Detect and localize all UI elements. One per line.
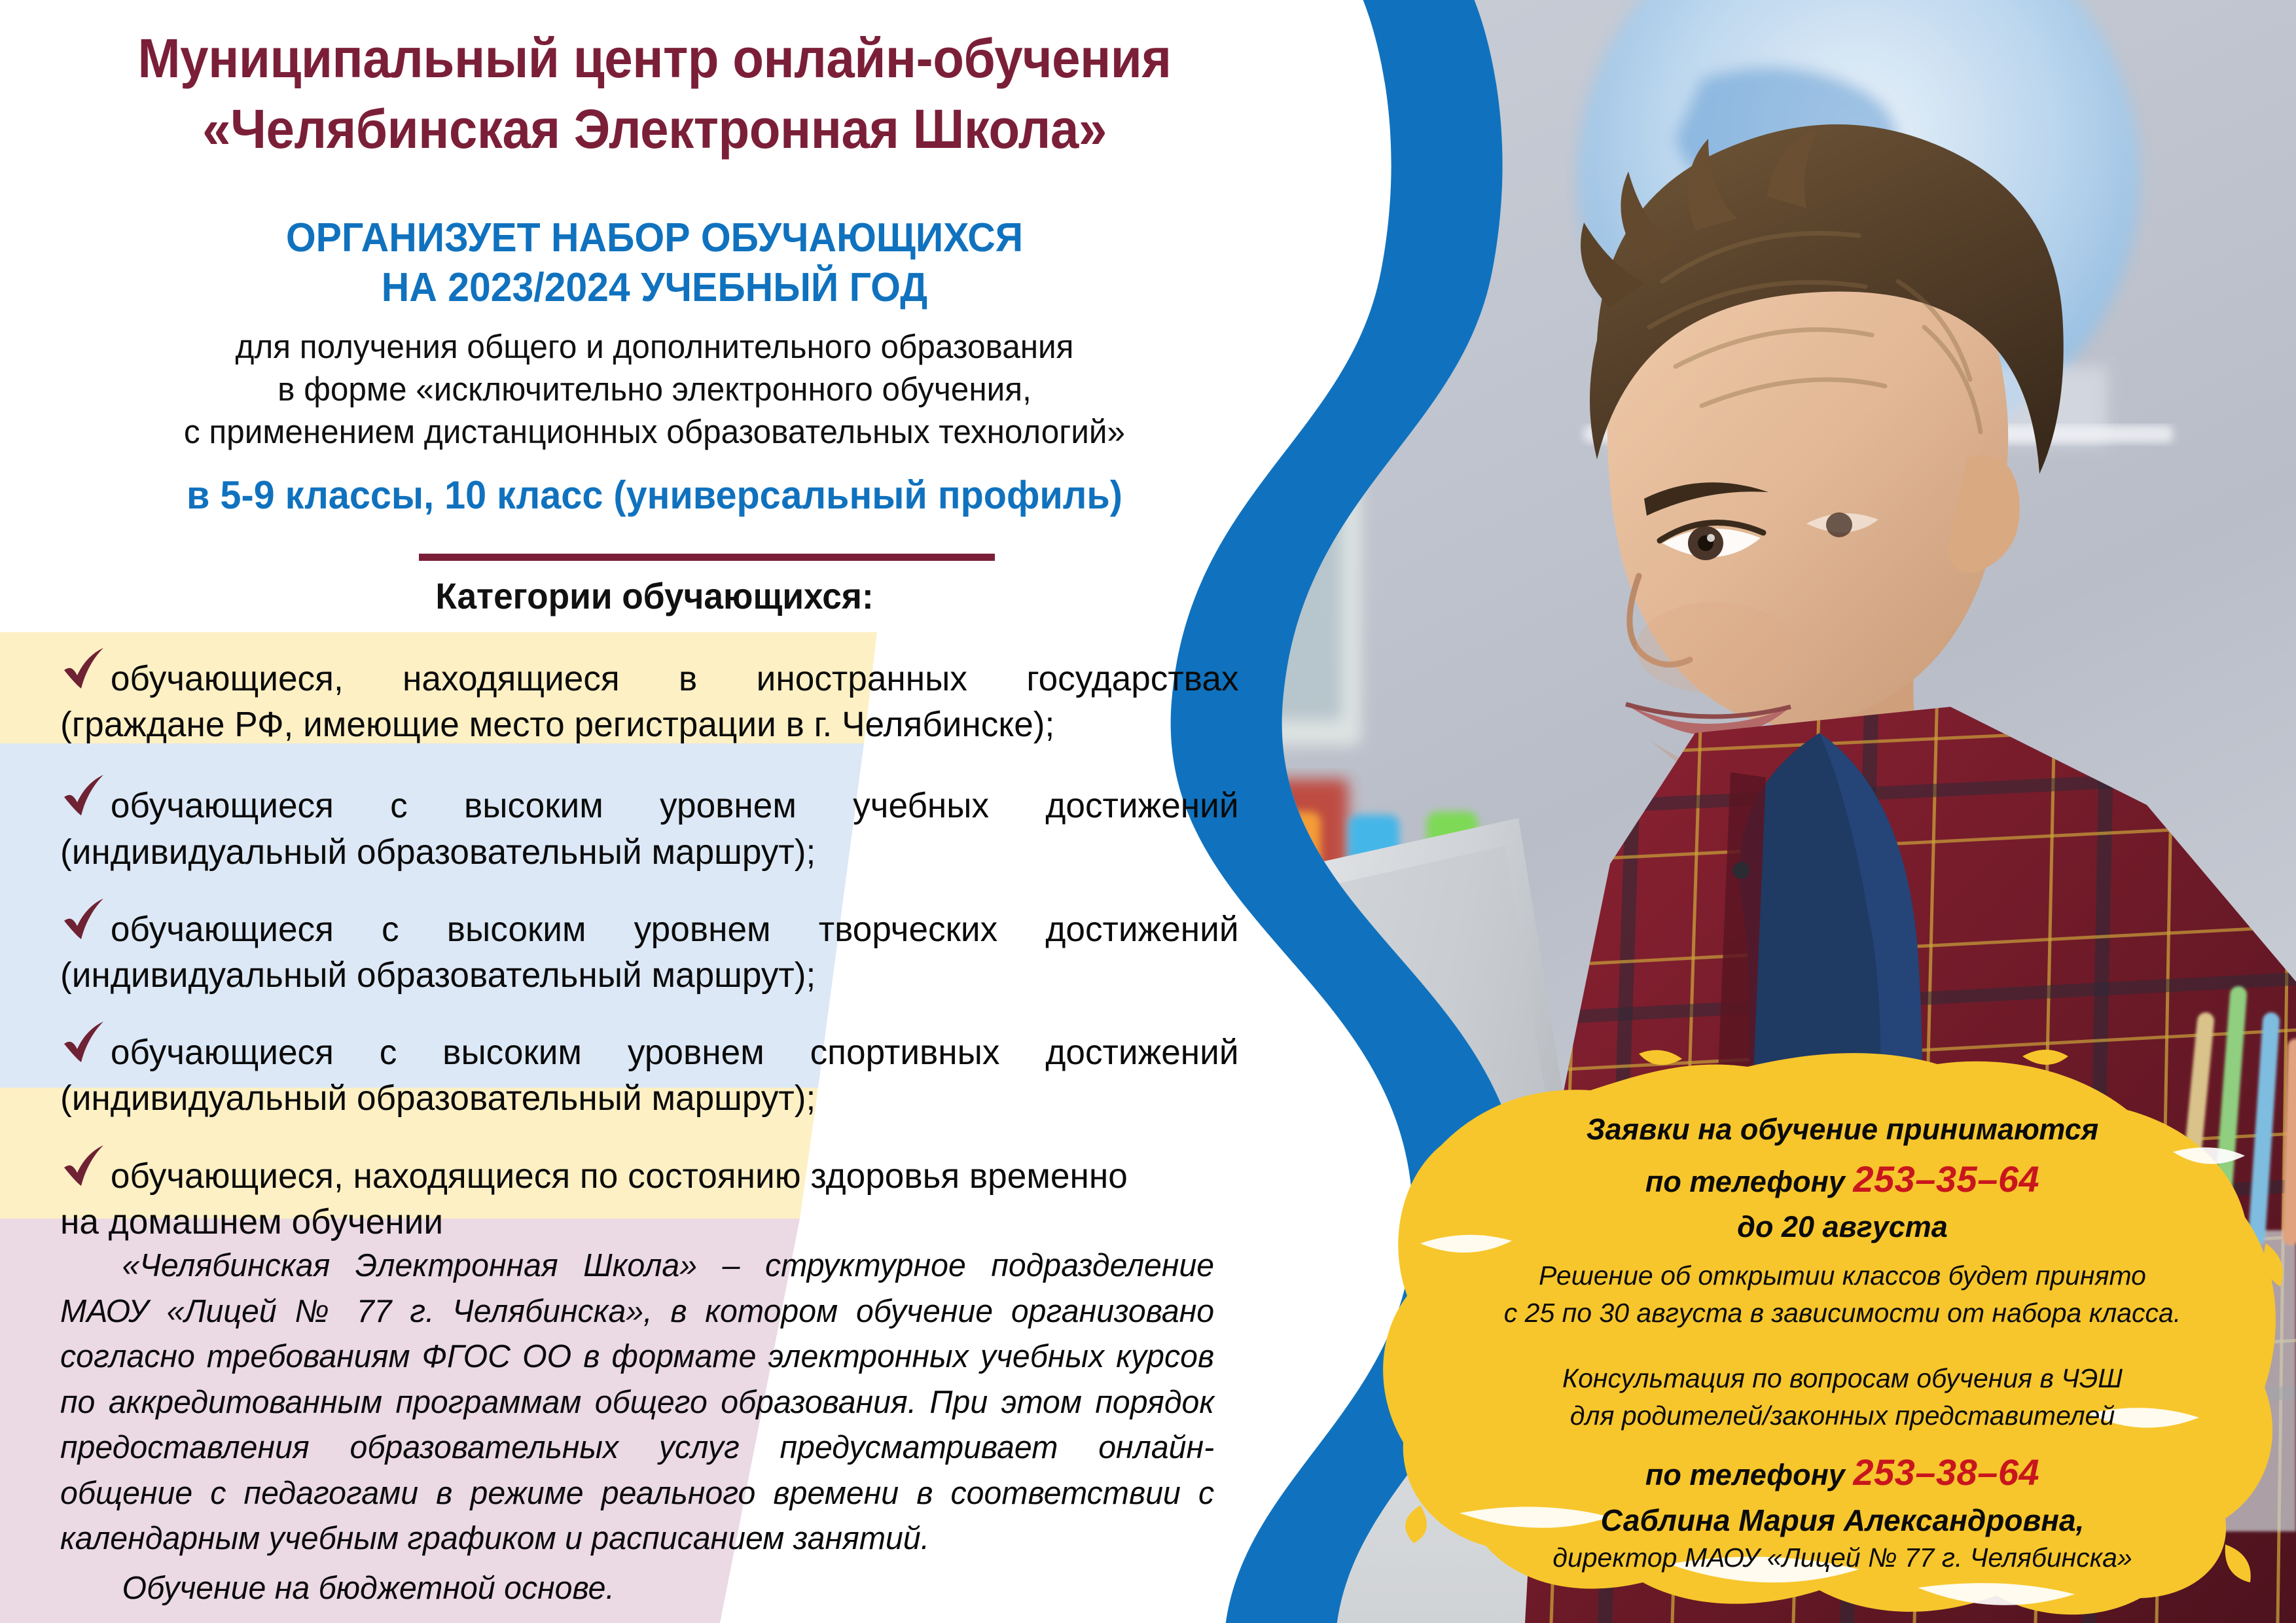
list-item-line-2: (индивидуальный образовательный маршрут)… (60, 829, 1239, 875)
list-item-line-2: (индивидуальный образовательный маршрут)… (60, 1075, 1239, 1121)
intro-line-3: с применением дистанционных образователь… (58, 411, 1251, 454)
categories-list: обучающиеся, находящиеся в иностранных г… (0, 632, 1283, 1257)
phone-label-2: по телефону (1645, 1458, 1845, 1491)
list-item-line-1: обучающиеся, находящиеся в иностранных г… (60, 656, 1239, 702)
list-item-line-1: обучающиеся с высоким уровнем учебных до… (60, 783, 1239, 829)
contact-deadline: до 20 августа (1407, 1210, 2278, 1244)
list-item-line-1: обучающиеся с высоким уровнем творческих… (60, 906, 1239, 952)
contact-phone-row-1: по телефону 253–35–64 (1407, 1156, 2278, 1204)
list-item: обучающиеся, находящиеся по состоянию зд… (0, 1153, 1283, 1245)
description-paragraph: «Челябинская Электронная Школа» – структ… (60, 1243, 1214, 1612)
contact-block: Заявки на обучение принимаются по телефо… (1407, 1113, 2278, 1574)
list-item: обучающиеся, находящиеся в иностранных г… (0, 656, 1283, 747)
intro-line-2: в форме «исключительно электронного обуч… (58, 368, 1251, 411)
intro-body: для получения общего и дополнительного о… (58, 326, 1251, 453)
director-title: директор МАОУ «Лицей № 77 г. Челябинска» (1407, 1541, 2278, 1574)
list-item-line-1: обучающиеся с высоким уровнем спортивных… (60, 1029, 1239, 1075)
director-name: Саблина Мария Александровна, (1407, 1502, 2278, 1539)
list-item: обучающиеся с высоким уровнем учебных до… (0, 783, 1283, 874)
contact-note-2: с 25 по 30 августа в зависимости от набо… (1407, 1296, 2278, 1330)
contact-note-1: Решение об открытии классов будет принят… (1407, 1258, 2278, 1293)
contact-consult-1: Консультация по вопросам обучения в ЧЭШ (1407, 1361, 2278, 1396)
title-line-1: Муниципальный центр онлайн-обучения (82, 27, 1227, 89)
phone-label-1: по телефону (1645, 1165, 1845, 1198)
title-line-2: «Челябинская Электронная Школа» (82, 98, 1227, 160)
list-item: обучающиеся с высоким уровнем творческих… (0, 906, 1283, 998)
description-text-1: «Челябинская Электронная Школа» – структ… (60, 1243, 1214, 1562)
phone-number-1[interactable]: 253–35–64 (1853, 1158, 2039, 1200)
subtitle-block: ОРГАНИЗУЕТ НАБОР ОБУЧАЮЩИХСЯ НА 2023/202… (70, 213, 1239, 312)
list-item-line-2: (индивидуальный образовательный маршрут)… (60, 952, 1239, 998)
subtitle-line-1: ОРГАНИЗУЕТ НАБОР ОБУЧАЮЩИХСЯ (70, 213, 1239, 263)
contact-consult-2: для родителей/законных представителей (1407, 1399, 2278, 1433)
list-item-line-2: на домашнем обучении (60, 1199, 1239, 1245)
intro-line-1: для получения общего и дополнительного о… (58, 326, 1251, 368)
left-content: Муниципальный центр онлайн-обучения «Чел… (0, 0, 1296, 1623)
list-item-line-2: (граждане РФ, имеющие место регистрации … (60, 702, 1239, 747)
divider-rule (419, 554, 995, 561)
grades-line: в 5-9 классы, 10 класс (универсальный пр… (64, 473, 1246, 518)
contact-phone-row-2: по телефону 253–38–64 (1407, 1449, 2278, 1497)
contact-line-1: Заявки на обучение принимаются (1407, 1113, 2278, 1147)
subtitle-line-2: НА 2023/2024 УЧЕБНЫЙ ГОД (70, 263, 1239, 313)
phone-number-2[interactable]: 253–38–64 (1853, 1452, 2039, 1493)
categories-heading: Категории обучающихся: (70, 575, 1239, 617)
page-title: Муниципальный центр онлайн-обучения «Чел… (82, 27, 1227, 160)
poster-root: Муниципальный центр онлайн-обучения «Чел… (0, 0, 2296, 1623)
list-item-line-1: обучающиеся, находящиеся по состоянию зд… (60, 1153, 1239, 1199)
list-item: обучающиеся с высоким уровнем спортивных… (0, 1029, 1283, 1121)
description-text-2: Обучение на бюджетной основе. (60, 1566, 1214, 1612)
